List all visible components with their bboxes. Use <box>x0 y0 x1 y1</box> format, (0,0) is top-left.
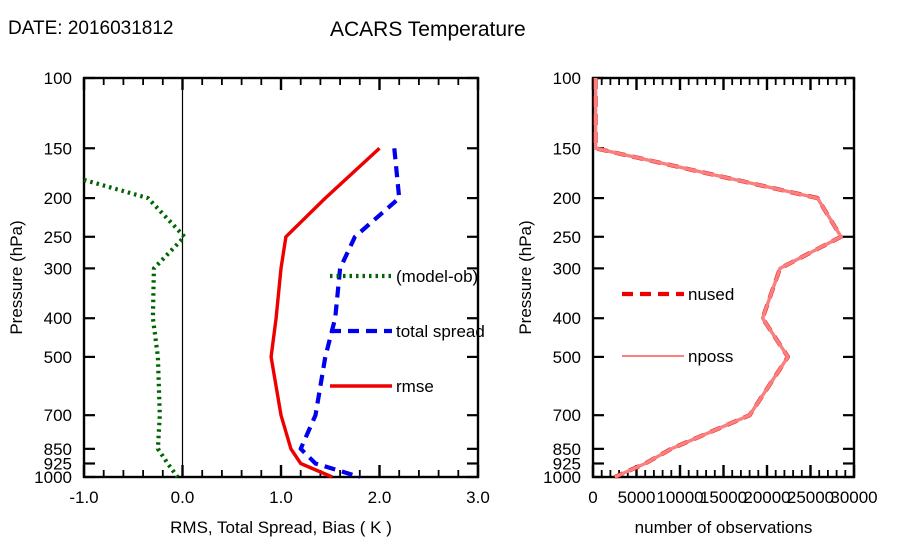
x-tick-label: 30000 <box>830 488 877 507</box>
legend-label-nposs: nposs <box>688 347 733 366</box>
x-tick-label: -1.0 <box>69 488 98 507</box>
y-tick-label: 250 <box>553 228 581 247</box>
y-axis-title: Pressure (hPa) <box>7 220 26 334</box>
x-tick-label: 15000 <box>700 488 747 507</box>
series-rmse <box>271 148 379 477</box>
y-tick-label: 150 <box>44 139 72 158</box>
y-tick-label: 200 <box>44 189 72 208</box>
x-tick-label: 1.0 <box>269 488 293 507</box>
series-nposs <box>596 78 841 477</box>
y-tick-label: 200 <box>553 189 581 208</box>
profile-plot-figure: 1001502002503004005007008509251000-1.00.… <box>0 0 900 560</box>
x-tick-label: 10000 <box>656 488 703 507</box>
y-tick-label: 300 <box>553 259 581 278</box>
y-tick-label: 150 <box>553 139 581 158</box>
y-tick-label: 400 <box>44 309 72 328</box>
x-tick-label: 5000 <box>618 488 656 507</box>
y-tick-label: 700 <box>553 406 581 425</box>
series--model-ob- <box>84 180 185 477</box>
x-tick-label: 0.0 <box>171 488 195 507</box>
x-axis-title: RMS, Total Spread, Bias ( K ) <box>170 518 392 537</box>
x-tick-label: 25000 <box>787 488 834 507</box>
legend-label-total-spread: total spread <box>396 322 485 341</box>
y-tick-label: 700 <box>44 406 72 425</box>
y-axis-title: Pressure (hPa) <box>516 220 535 334</box>
legend-label-rmse: rmse <box>396 377 434 396</box>
y-tick-label: 250 <box>44 228 72 247</box>
y-tick-label: 100 <box>553 69 581 88</box>
series-total-spread <box>301 148 400 477</box>
x-tick-label: 0 <box>588 488 597 507</box>
y-tick-label: 1000 <box>34 468 72 487</box>
y-tick-label: 300 <box>44 259 72 278</box>
x-axis-title: number of observations <box>635 518 813 537</box>
x-tick-label: 2.0 <box>368 488 392 507</box>
x-tick-label: 20000 <box>743 488 790 507</box>
legend-label-nused: nused <box>688 285 734 304</box>
series-nused <box>596 78 841 477</box>
y-tick-label: 1000 <box>543 468 581 487</box>
y-tick-label: 500 <box>553 348 581 367</box>
legend-label--model-ob-: (model-ob) <box>396 267 478 286</box>
y-tick-label: 500 <box>44 348 72 367</box>
y-tick-label: 400 <box>553 309 581 328</box>
y-tick-label: 100 <box>44 69 72 88</box>
right-panel-frame <box>593 78 854 477</box>
x-tick-label: 3.0 <box>466 488 490 507</box>
